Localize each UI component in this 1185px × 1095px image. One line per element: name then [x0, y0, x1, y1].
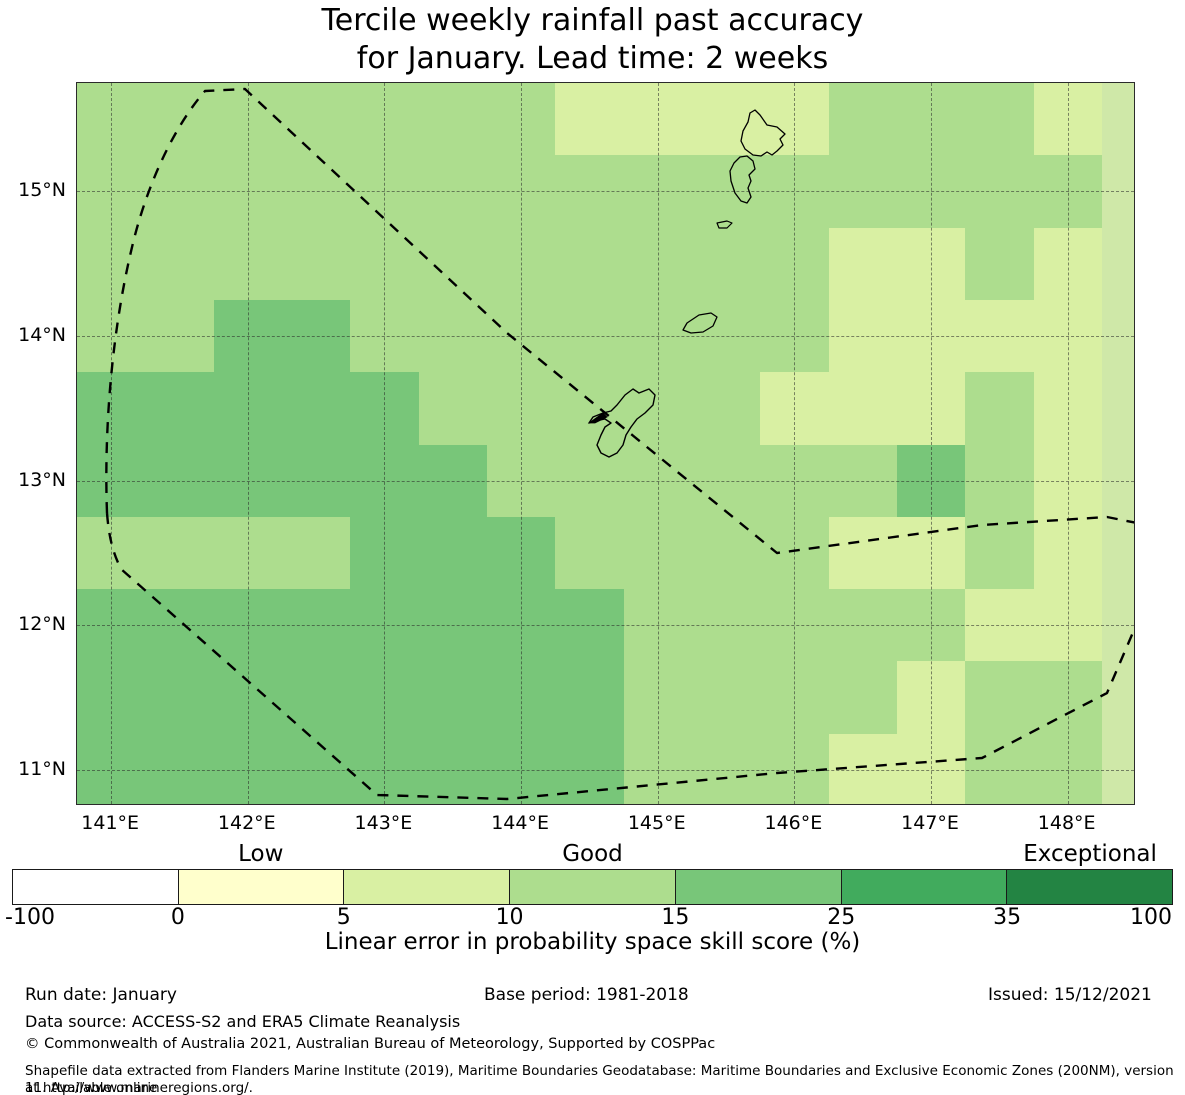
colorbar	[12, 869, 1173, 905]
x-axis-tick-label: 148°E	[1007, 812, 1127, 834]
x-axis-tick-label: 143°E	[323, 812, 443, 834]
x-axis-tick-label: 145°E	[597, 812, 717, 834]
colorbar-title: Linear error in probability space skill …	[0, 929, 1185, 955]
island-rota-outline	[683, 313, 717, 333]
colorbar-tick-label: -100	[5, 905, 55, 930]
colorbar-segment	[676, 870, 842, 904]
colorbar-segment	[13, 870, 179, 904]
x-axis-tick-label: 144°E	[460, 812, 580, 834]
colorbar-tick-label: 10	[496, 905, 524, 930]
colorbar-quality-label: Low	[238, 841, 283, 867]
colorbar-tick-label: 5	[337, 905, 351, 930]
page-title: Tercile weekly rainfall past accuracy fo…	[0, 0, 1185, 78]
footer-copyright: © Commonwealth of Australia 2021, Austra…	[25, 1036, 715, 1052]
island-tinian-outline	[730, 156, 755, 203]
colorbar-tick-label: 100	[1130, 905, 1172, 930]
x-axis-tick-label: 146°E	[733, 812, 853, 834]
figure-root: Tercile weekly rainfall past accuracy fo…	[0, 0, 1185, 1095]
y-axis-tick-label: 15°N	[0, 179, 66, 201]
colorbar-segment	[842, 870, 1008, 904]
colorbar-quality-label: Good	[562, 841, 623, 867]
figure-footer: Run date: January Base period: 1981-2018…	[0, 985, 1185, 1009]
colorbar-segment	[1007, 870, 1172, 904]
footer-shapefile-line-2: at http://www.marineregions.org/.	[25, 1080, 253, 1095]
x-axis-tick-label: 147°E	[870, 812, 990, 834]
island-aguijan-outline	[717, 221, 732, 228]
colorbar-tick-label: 15	[661, 905, 689, 930]
island-guam-outline	[589, 389, 655, 457]
colorbar-tick-label: 35	[993, 905, 1021, 930]
colorbar-segment	[344, 870, 510, 904]
x-axis-tick-label: 142°E	[187, 812, 307, 834]
colorbar-tick-label: 0	[171, 905, 185, 930]
map-vector-overlay	[77, 83, 1134, 804]
x-axis-tick-label: 141°E	[50, 812, 170, 834]
eez-boundary-line	[106, 89, 1134, 799]
island-saipan-outline	[741, 110, 785, 156]
footer-data-source: Data source: ACCESS-S2 and ERA5 Climate …	[25, 1012, 460, 1031]
colorbar-segment	[179, 870, 345, 904]
title-line-1: Tercile weekly rainfall past accuracy	[322, 3, 864, 38]
colorbar-segment	[510, 870, 676, 904]
colorbar-quality-label: Exceptional	[1023, 841, 1157, 867]
footer-run-date: Run date: January	[25, 985, 177, 1005]
footer-row-primary: Run date: January Base period: 1981-2018…	[0, 985, 1185, 1009]
footer-base-period: Base period: 1981-2018	[484, 985, 689, 1005]
colorbar-qualitative-labels: LowGoodExceptional	[0, 841, 1185, 867]
map-plot-area	[76, 82, 1135, 805]
y-axis-tick-label: 13°N	[0, 469, 66, 491]
y-axis-tick-label: 12°N	[0, 613, 66, 635]
y-axis-tick-label: 11°N	[0, 758, 66, 780]
y-axis-tick-label: 14°N	[0, 324, 66, 346]
colorbar-tick-label: 25	[827, 905, 855, 930]
title-line-2: for January. Lead time: 2 weeks	[357, 41, 828, 76]
footer-issued: Issued: 15/12/2021	[988, 985, 1152, 1005]
